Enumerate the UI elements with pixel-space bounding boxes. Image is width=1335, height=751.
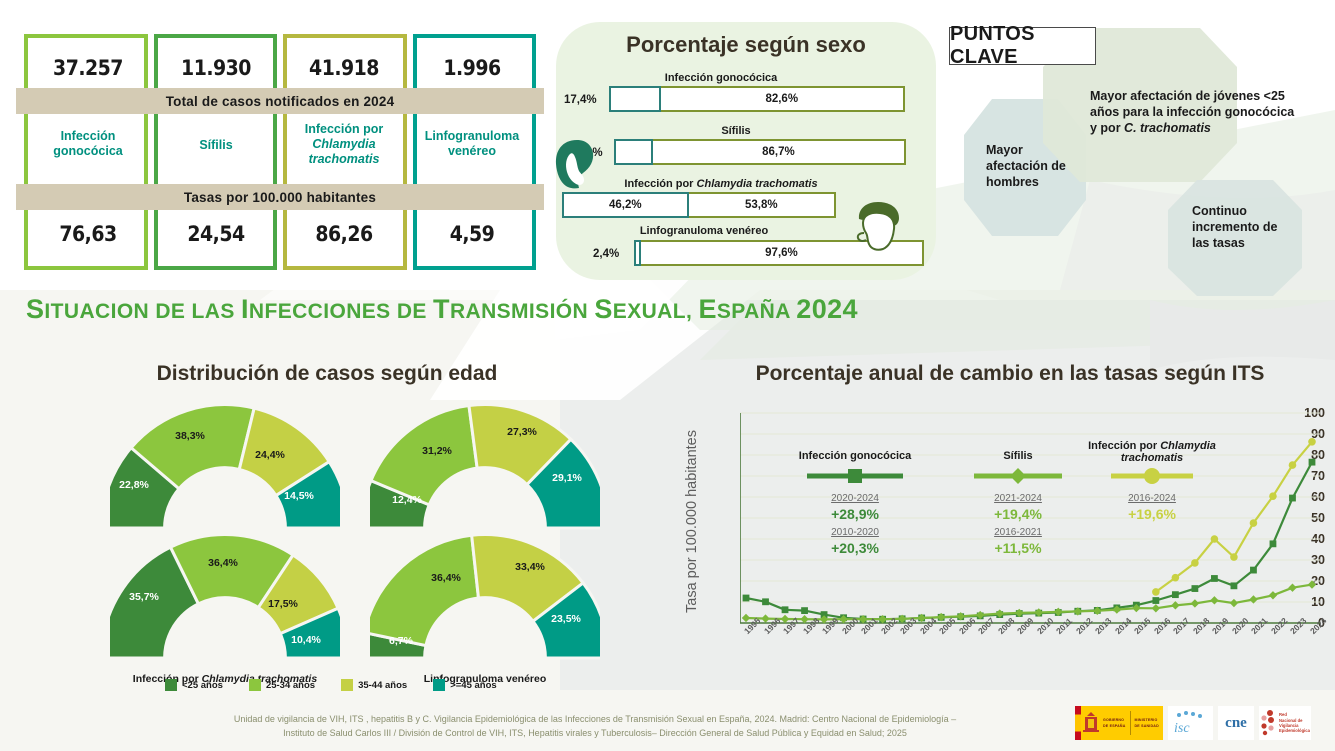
legend-marker-square-icon xyxy=(805,468,905,484)
male-head-icon xyxy=(847,197,907,255)
legend-item-45p: >=45 años xyxy=(433,679,496,691)
legend-swatch-icon xyxy=(165,679,177,691)
sexo-bar-male-segment: 53,8% xyxy=(689,192,836,218)
donut-chlamydia: 35,7% 36,4% 17,5% 10,4% Infección por Ch… xyxy=(110,530,340,695)
sexo-bar-sifilis: 86,7% xyxy=(614,139,906,165)
sexo-bar-male-segment: 86,7% xyxy=(653,139,906,165)
legend-name-sifilis: Sífilis xyxy=(1003,450,1032,462)
isciii-mark-icon: isc xyxy=(1171,710,1211,736)
footer-line-2: Instituto de Salud Carlos III / División… xyxy=(150,726,1040,740)
sexo-bar-gonococica: 82,6% xyxy=(609,86,905,112)
kpi-value-chlamydia: 41.918 xyxy=(282,56,406,80)
instituto-salud-carlos-iii-logo: isc xyxy=(1168,706,1213,740)
footer-citation: Unidad de vigilancia de VIH, ITS , hepat… xyxy=(150,712,1040,740)
legend-value-sifilis-2: +11,5% xyxy=(994,540,1041,556)
legend-value-gonococica-1: +28,9% xyxy=(831,506,879,522)
legend-label-35-44: 35-44 años xyxy=(358,680,407,691)
page-title: SITUACION DE LAS INFECCIONES DE TRANSMIS… xyxy=(26,294,858,325)
kpi-label-chlamydia: Infección porChlamydiatrachomatis xyxy=(286,122,402,167)
kpi-rate-chlamydia: 86,26 xyxy=(282,222,406,246)
kpi-rate-sifilis: 24,54 xyxy=(154,222,278,246)
legend-period-sifilis-2: 2016-2021 xyxy=(994,527,1042,538)
legend-item-25-34: 25-34 años xyxy=(249,679,315,691)
legend-name-chlamydia: Infección por Chlamydiatrachomatis xyxy=(1062,440,1242,464)
kpi-value-gonococica: 37.257 xyxy=(26,56,150,80)
sexo-label-sifilis: Sífilis xyxy=(696,125,776,137)
puntos-clave-item-hombres: Mayor afectación de hombres xyxy=(986,142,1082,190)
legend-period-gonococica-1: 2020-2024 xyxy=(831,493,879,504)
legend-value-gonococica-2: +20,3% xyxy=(831,540,879,556)
sexo-bar-female-segment xyxy=(634,240,641,266)
sexo-female-pct-linfogranuloma: 2,4% xyxy=(593,248,619,260)
donut-chart-svg xyxy=(370,400,600,532)
sexo-label-chlamydia: Infección por Chlamydia trachomatis xyxy=(606,178,836,190)
kpi-summary-table: 37.257 11.930 41.918 1.996 Total de caso… xyxy=(24,34,536,270)
kpi-label-sifilis: Sífilis xyxy=(158,138,274,153)
donut-section-title: Distribución de casos según edad xyxy=(112,362,542,386)
logo-rnve-line4: Epidemiológica xyxy=(1279,728,1310,733)
logo-gob-line1: GOBIERNO xyxy=(1103,718,1126,723)
gobierno-de-espana-ministerio-de-sanidad-logo: GOBIERNO DE ESPAÑA MINISTERIO DE SANIDAD xyxy=(1075,706,1163,740)
kpi-rate-linfogranuloma: 4,59 xyxy=(410,222,534,246)
line-chart-y-axis-label: Tasa por 100.000 habitantes xyxy=(684,430,700,613)
sexo-bar-male-segment: 82,6% xyxy=(661,86,905,112)
donut-linfogranuloma: 6,7% 36,4% 33,4% 23,5% Linfogranuloma ve… xyxy=(370,530,600,695)
coat-of-arms-icon xyxy=(1081,709,1101,737)
sexo-label-gonococica: Infección gonocócica xyxy=(646,72,796,84)
line-chart-title: Porcentaje anual de cambio en las tasas … xyxy=(700,362,1320,386)
donut-chart-svg xyxy=(370,530,600,662)
legend-value-chlamydia-1: +19,6% xyxy=(1128,506,1176,522)
cne-logo: cne xyxy=(1218,706,1254,740)
line-chart-legend: Infección gonocócica 2020-2024 +28,9% 20… xyxy=(700,405,1325,645)
kpi-band-total-cases: Total de casos notificados en 2024 xyxy=(16,88,544,114)
age-legend: <25 años 25-34 años 35-44 años >=45 años xyxy=(165,679,497,691)
legend-swatch-icon xyxy=(433,679,445,691)
puntos-clave-item-incremento: Continuo incremento de las tasas xyxy=(1192,203,1292,251)
sexo-title: Porcentaje según sexo xyxy=(556,32,936,58)
sexo-bar-female-segment xyxy=(609,86,661,112)
legend-name-gonococica: Infección gonocócica xyxy=(799,450,911,462)
puntos-clave-item-jovenes: Mayor afectación de jóvenes <25 años par… xyxy=(1090,88,1300,136)
kpi-label-linfogranuloma: Linfogranulomavenéreo xyxy=(414,129,530,159)
legend-label-25-34: 25-34 años xyxy=(266,680,315,691)
kpi-value-linfogranuloma: 1.996 xyxy=(410,56,534,80)
legend-item-35-44: 35-44 años xyxy=(341,679,407,691)
logo-gob-line4: DE SANIDAD xyxy=(1135,724,1159,729)
svg-text:isc: isc xyxy=(1174,721,1190,736)
legend-label-45p: >=45 años xyxy=(450,680,496,691)
sexo-label-linfogranuloma: Linfogranuloma venéreo xyxy=(624,225,784,237)
kpi-band-rates: Tasas por 100.000 habitantes xyxy=(16,184,544,210)
porcentaje-segun-sexo-section: Porcentaje según sexo Infección gonocóci… xyxy=(556,22,956,284)
red-nacional-vigilancia-epidemiologica-logo: Red Nacional de Vigilancia Epidemiológic… xyxy=(1259,706,1311,740)
donut-chart-svg xyxy=(110,530,340,662)
legend-swatch-icon xyxy=(341,679,353,691)
sexo-bar-female-segment xyxy=(614,139,653,165)
logo-gob-line2: DE ESPAÑA xyxy=(1103,724,1126,729)
footer-line-1: Unidad de vigilancia de VIH, ITS , hepat… xyxy=(150,712,1040,726)
legend-period-sifilis-1: 2021-2024 xyxy=(994,493,1042,504)
kpi-label-gonococica: Infeccióngonocócica xyxy=(30,129,146,159)
legend-value-sifilis-1: +19,4% xyxy=(994,506,1042,522)
kpi-rate-gonococica: 76,63 xyxy=(26,222,150,246)
legend-item-u25: <25 años xyxy=(165,679,223,691)
legend-period-gonococica-2: 2010-2020 xyxy=(831,527,879,538)
donut-chart-svg xyxy=(110,400,340,532)
logo-gob-line3: MINISTERIO xyxy=(1135,718,1159,723)
sexo-female-pct-gonococica: 17,4% xyxy=(564,94,597,106)
line-chart: 100 90 80 70 60 50 40 30 20 10 0 1995199… xyxy=(700,405,1325,695)
kpi-value-sifilis: 11.930 xyxy=(154,56,278,80)
legend-label-u25: <25 años xyxy=(182,680,223,691)
legend-swatch-icon xyxy=(249,679,261,691)
rnve-dots-icon xyxy=(1259,709,1277,737)
legend-period-chlamydia-1: 2016-2024 xyxy=(1128,493,1176,504)
female-head-icon xyxy=(546,134,608,196)
legend-marker-diamond-icon xyxy=(972,468,1064,484)
logo-bar: GOBIERNO DE ESPAÑA MINISTERIO DE SANIDAD… xyxy=(1075,706,1311,740)
puntos-clave-title: PUNTOS CLAVE xyxy=(949,27,1096,65)
legend-marker-circle-icon xyxy=(1109,468,1195,484)
